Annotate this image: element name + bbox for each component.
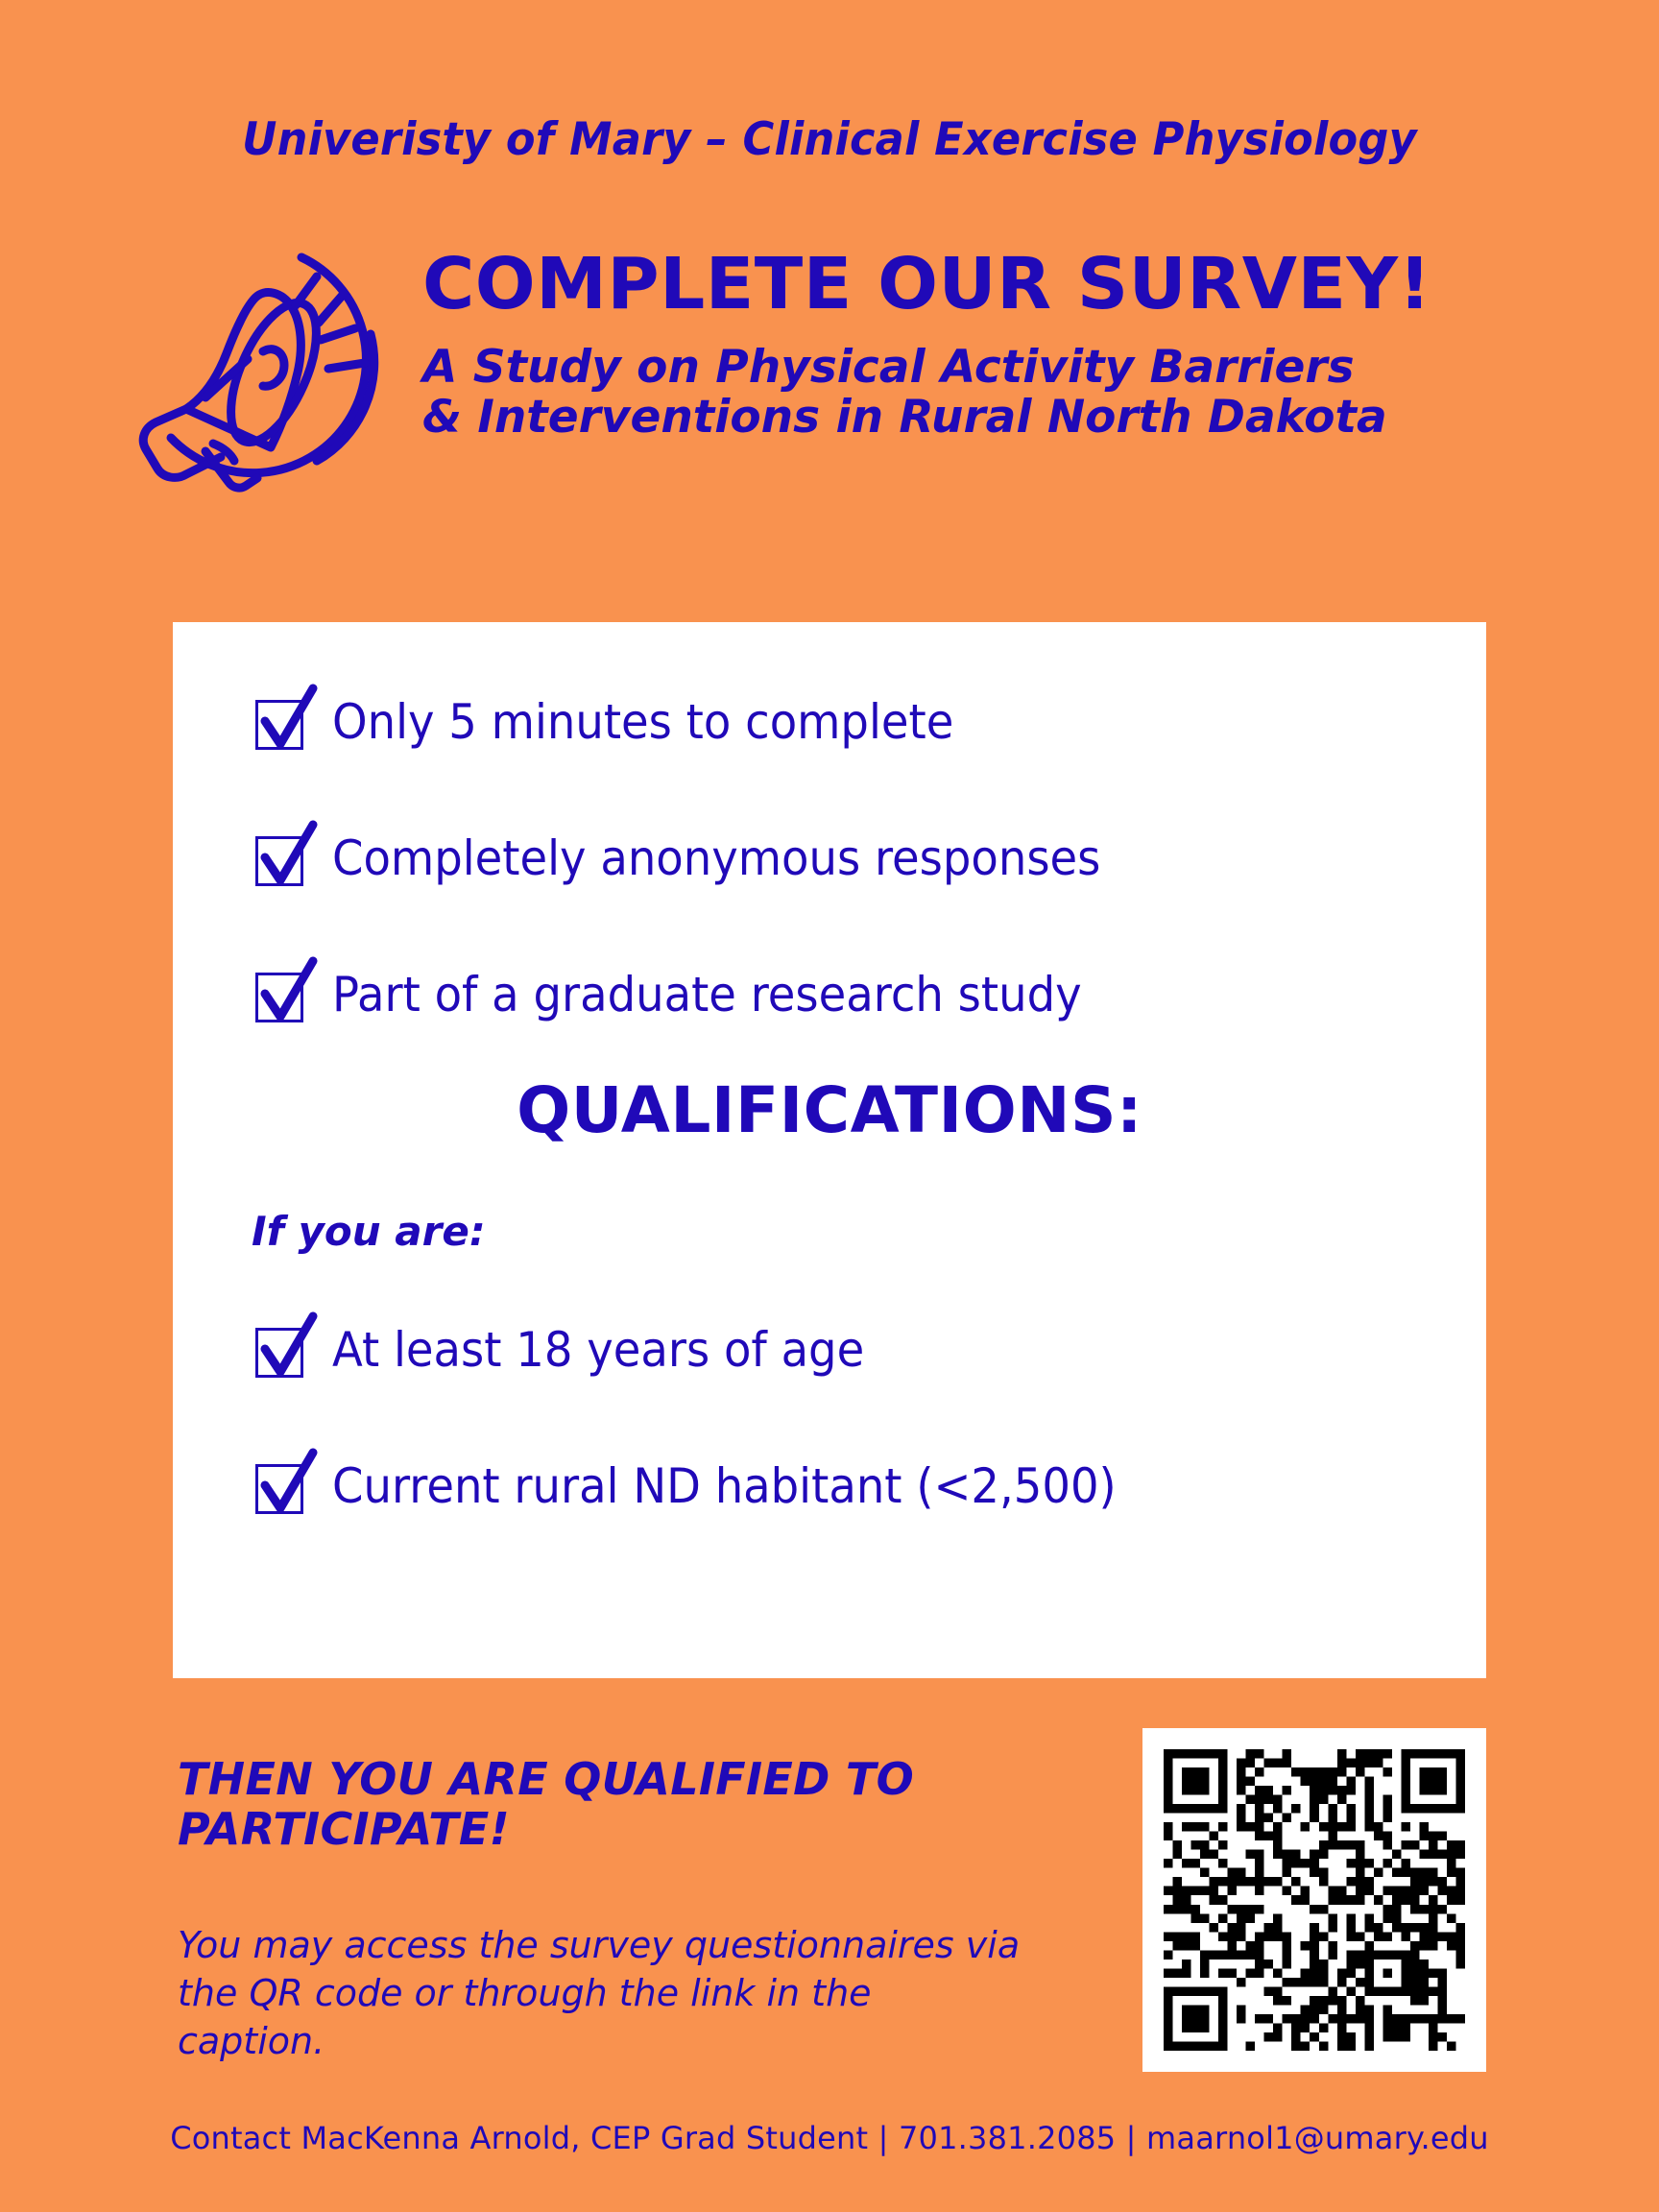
list-item: Completely anonymous responses <box>255 812 1446 904</box>
hero-text: COMPLETE OUR SURVEY! A Study on Physical… <box>422 238 1431 444</box>
cta-title-line-2: PARTICIPATE! <box>178 1805 1022 1855</box>
checkbox-checked-icon <box>255 694 307 750</box>
department-line: Univeristy of Mary – Clinical Exercise P… <box>41 113 1618 166</box>
qualification-label: Current rural ND habitant (<2,500) <box>332 1462 1117 1510</box>
qr-code[interactable] <box>1142 1728 1486 2072</box>
benefit-label: Part of a graduate research study <box>332 971 1082 1019</box>
cta-body: You may access the survey questionnaires… <box>178 1921 1022 2065</box>
checkbox-checked-icon <box>255 830 307 886</box>
subtitle-line-1: A Study on Physical Activity Barriers <box>422 343 1431 394</box>
contact-footer: Contact MacKenna Arnold, CEP Grad Studen… <box>0 2120 1659 2156</box>
qualifications-intro: If you are: <box>252 1208 486 1255</box>
page-subtitle: A Study on Physical Activity Barriers & … <box>422 343 1431 444</box>
checkbox-checked-icon <box>255 967 307 1022</box>
list-item: Part of a graduate research study <box>255 949 1446 1041</box>
benefits-list: Only 5 minutes to complete Completely an… <box>255 676 1446 1041</box>
cta-block: THEN YOU ARE QUALIFIED TO PARTICIPATE! Y… <box>178 1755 1022 2066</box>
benefit-label: Completely anonymous responses <box>332 834 1100 882</box>
list-item: At least 18 years of age <box>255 1304 1446 1396</box>
qualifications-heading: QUALIFICATIONS: <box>173 1073 1486 1147</box>
cta-title: THEN YOU ARE QUALIFIED TO PARTICIPATE! <box>178 1755 1022 1854</box>
qualification-label: At least 18 years of age <box>332 1326 864 1374</box>
qualifications-list: At least 18 years of age Current rural N… <box>255 1304 1446 1532</box>
benefit-label: Only 5 minutes to complete <box>332 698 953 746</box>
page-title: COMPLETE OUR SURVEY! <box>422 250 1431 320</box>
info-card: Only 5 minutes to complete Completely an… <box>173 622 1486 1678</box>
list-item: Only 5 minutes to complete <box>255 676 1446 768</box>
megaphone-icon <box>113 234 386 495</box>
subtitle-line-2: & Interventions in Rural North Dakota <box>422 393 1431 444</box>
cta-title-line-1: THEN YOU ARE QUALIFIED TO <box>178 1755 1022 1805</box>
checkbox-checked-icon <box>255 1458 307 1514</box>
list-item: Current rural ND habitant (<2,500) <box>255 1440 1446 1532</box>
checkbox-checked-icon <box>255 1322 307 1378</box>
hero-block: COMPLETE OUR SURVEY! A Study on Physical… <box>113 238 1553 495</box>
